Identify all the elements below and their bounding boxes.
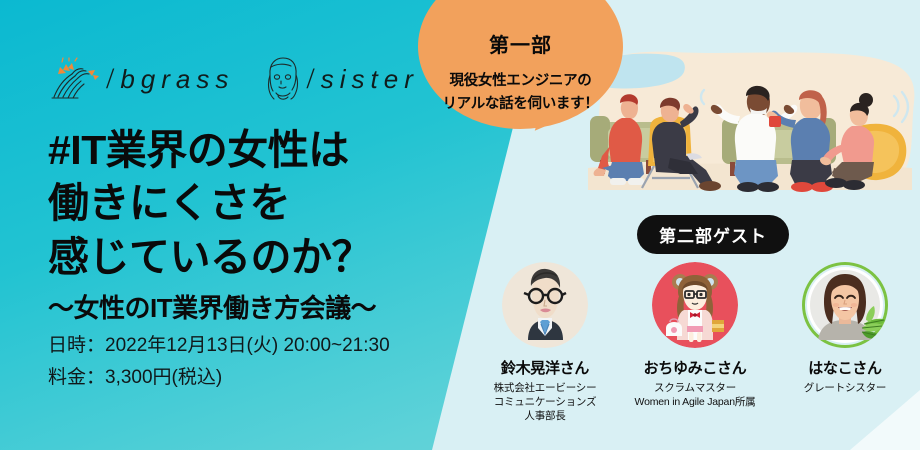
guest-name: はなこさん — [808, 357, 882, 378]
guest-card: おちゆみこさん スクラムマスター Women in Agile Japan所属 — [620, 262, 770, 409]
subtitle: 〜女性のIT業界働き方会議〜 — [48, 288, 376, 325]
guest-title-line-3: 人事部長 — [494, 409, 597, 423]
brand-slash-2: / — [306, 62, 314, 96]
group-discussion-illustration — [578, 50, 920, 210]
bubble-line-2: リアルな話を伺います！ — [442, 93, 598, 115]
guest-title: スクラムマスター Women in Agile Japan所属 — [635, 381, 756, 409]
guest-card: はなこさん グレートシスター — [770, 262, 920, 395]
brand-logo[interactable]: / bgrass / sister — [48, 55, 419, 103]
guest-list: 鈴木晃洋さん 株式会社エービーシー コミュニケーションズ 人事部長 — [470, 262, 920, 423]
bubble-body: 現役女性エンジニアの リアルな話を伺います！ — [442, 70, 598, 115]
bubble-line-1: 現役女性エンジニアの — [442, 70, 598, 92]
event-banner: / bgrass / sister — [0, 0, 920, 450]
guest-title-line-1: 株式会社エービーシー — [494, 381, 597, 395]
brand-word-bgrass: bgrass — [120, 64, 234, 95]
headline-line-3: 感じているのか？ — [48, 231, 372, 284]
speech-bubble-content: 第一部 現役女性エンジニアの リアルな話を伺います！ — [418, 0, 623, 129]
brand-slash-1: / — [106, 62, 114, 96]
guest-title-line-2: Women in Agile Japan所属 — [635, 395, 756, 409]
guest-title-line-2: コミュニケーションズ — [494, 395, 597, 409]
hand-grass-sketch-icon — [48, 57, 104, 101]
bubble-title: 第一部 — [489, 29, 552, 58]
event-datetime: 日時：2022年12月13日(火) 20:00~21:30 — [48, 330, 390, 362]
brand-word-sister: sister — [321, 64, 419, 95]
event-price: 料金：3,300円(税込) — [48, 362, 390, 394]
cartoon-girl-bear-hood-avatar — [652, 262, 738, 348]
guest-card: 鈴木晃洋さん 株式会社エービーシー コミュニケーションズ 人事部長 — [470, 262, 620, 423]
headline-line-1: #IT業界の女性は — [48, 124, 372, 177]
guest-title: 株式会社エービーシー コミュニケーションズ 人事部長 — [494, 381, 597, 423]
guest-name: 鈴木晃洋さん — [501, 357, 589, 378]
event-meta: 日時：2022年12月13日(火) 20:00~21:30 料金：3,300円(… — [48, 330, 390, 395]
guest-title: グレートシスター — [804, 381, 886, 395]
headline-line-2: 働きにくさを — [48, 177, 372, 230]
portrait-sketch-man-glasses-avatar — [502, 262, 588, 348]
woman-face-sketch-icon — [260, 55, 304, 103]
photo-woman-smiling-green-ring-avatar — [802, 262, 888, 348]
page-title: #IT業界の女性は 働きにくさを 感じているのか？ — [48, 124, 372, 284]
guest-title-line-1: グレートシスター — [804, 381, 886, 395]
guest-title-line-1: スクラムマスター — [635, 381, 756, 395]
guest-name: おちゆみこさん — [644, 357, 747, 378]
status-badge-part2: 第二部ゲスト — [637, 215, 789, 254]
